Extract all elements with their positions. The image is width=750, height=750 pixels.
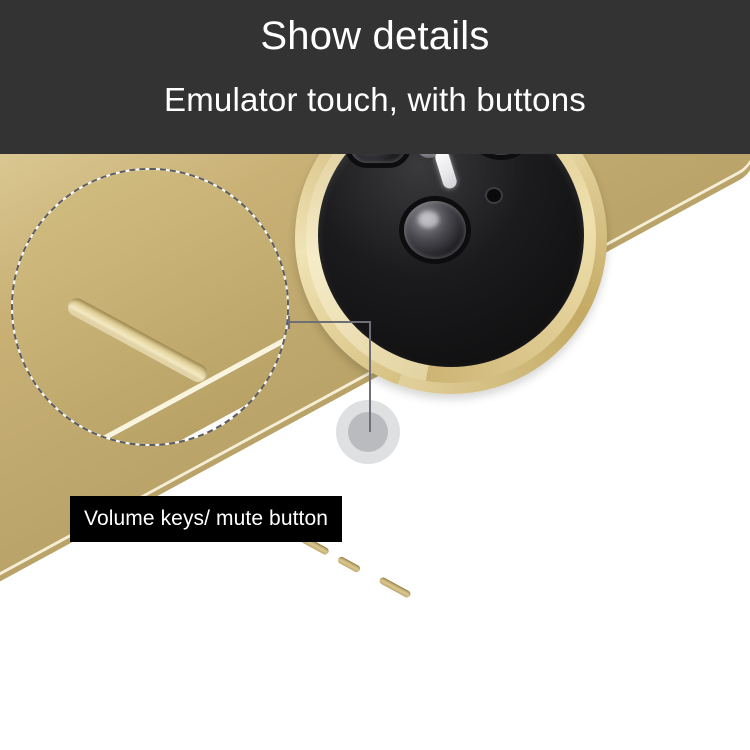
camera-lens-telephoto [404, 201, 466, 259]
magnified-frame-bottom-highlight [11, 168, 289, 446]
page-title: Show details [260, 16, 489, 56]
magnifier-content [11, 168, 289, 446]
annotation-caption: Volume keys/ mute button [70, 496, 342, 542]
product-photo: Volume keys/ mute button [0, 154, 750, 750]
header-banner: Show details Emulator touch, with button… [0, 0, 750, 154]
microphone-hole-icon [487, 189, 501, 202]
page-subtitle: Emulator touch, with buttons [164, 83, 586, 116]
volume-down-button[interactable] [378, 576, 411, 598]
screenshot-root: Volume keys/ mute button Show details Em… [0, 0, 750, 750]
magnifier-callout [11, 168, 289, 446]
camera-lens-ultrawide [470, 154, 532, 155]
led-flash-icon [434, 154, 459, 190]
camera-module [295, 154, 607, 394]
touch-indicator-inner[interactable] [348, 412, 388, 452]
mute-switch-button[interactable] [337, 556, 361, 574]
camera-lens-wide [350, 154, 406, 163]
